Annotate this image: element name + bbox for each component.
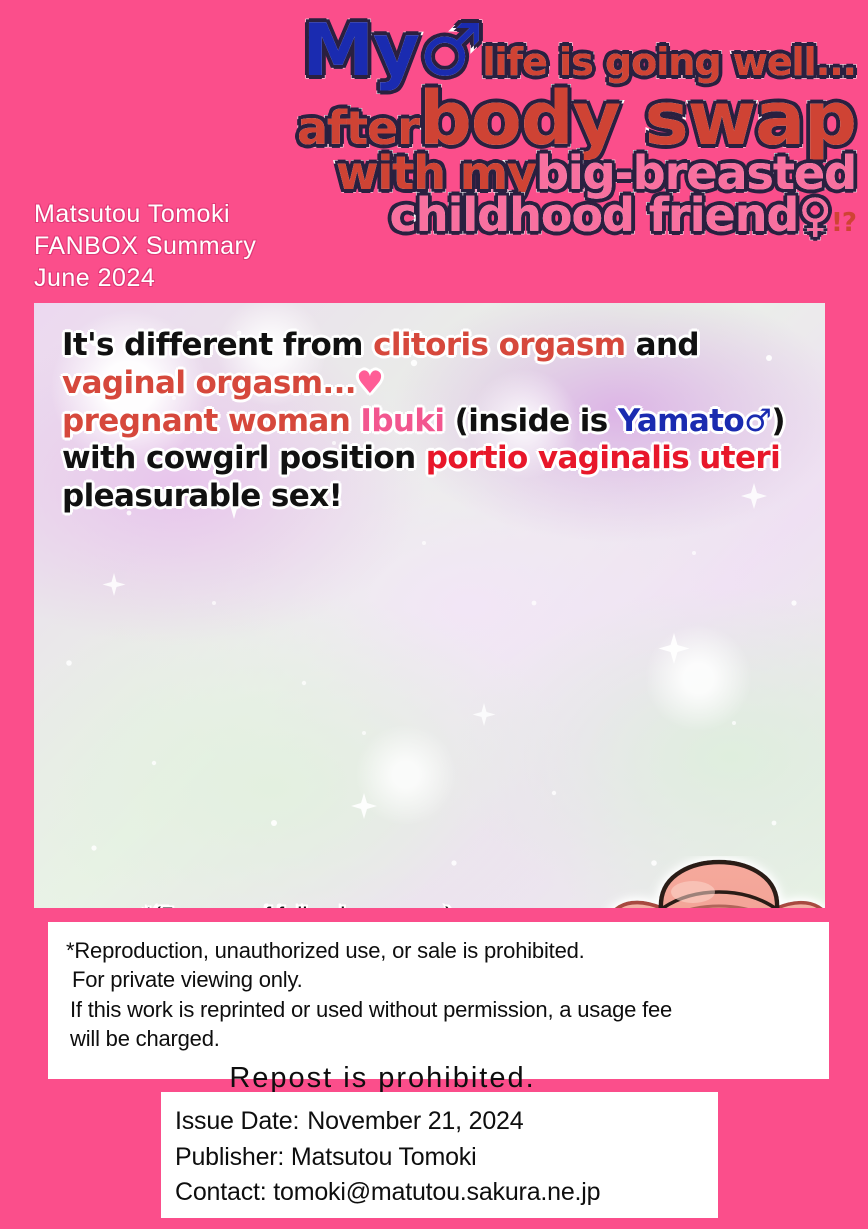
publisher-value: Matsutou Tomoki [291,1143,477,1171]
heart-icon: ♥ [356,365,383,401]
byline-source: FANBOX Summary [34,230,256,262]
terms-line-3: If this work is reprinted or used withou… [66,995,829,1024]
headline-line-5: pleasurable sex! [62,478,815,516]
headline-l1a: It's different from [62,327,373,363]
headline-line-4: with cowgirl position portio vaginalis u… [62,440,815,478]
headline-line-2: vaginal orgasm...♥ [62,365,815,403]
contact-value: tomoki@matutou.sakura.ne.jp [273,1178,600,1206]
terms-box: *Reproduction, unauthorized use, or sale… [48,922,829,1079]
page-count-note: *(5 pages of full-color manga) [144,903,453,908]
title-line-2: afterbody swap [248,82,856,156]
headline-cowgirl-position: with cowgirl position [62,440,426,476]
byline: Matsutou Tomoki FANBOX Summary June 2024 [34,198,256,294]
issue-info-box: Issue Date:November 21, 2024 Publisher: … [161,1092,718,1218]
publisher-row: Publisher: Matsutou Tomoki [175,1140,718,1176]
headline-line-3: pregnant woman Ibuki (inside is Yamato♂) [62,403,815,441]
uterus-illustration [601,856,825,908]
title-after: after [297,105,419,151]
headline-ibuki: Ibuki [360,403,444,439]
terms-line-1: *Reproduction, unauthorized use, or sale… [66,936,829,965]
headline-pregnant-woman: pregnant woman [62,403,360,439]
title-block: My♂life is going well... afterbody swap … [248,14,856,264]
issue-date-value: November 21, 2024 [307,1107,523,1135]
contact-row: Contact: tomoki@matutou.sakura.ne.jp [175,1175,718,1211]
title-body-swap: body swap [419,82,856,156]
headline-pleasurable-sex: pleasurable sex! [62,478,342,514]
female-symbol-icon: ♀ [798,192,831,238]
issue-date-label: Issue Date: [175,1107,299,1135]
headline-l3e: ) [771,403,785,439]
byline-date: June 2024 [34,262,256,294]
title-childhood-friend: childhood friend [390,192,799,238]
terms-lines: *Reproduction, unauthorized use, or sale… [48,922,829,1098]
main-content-panel: It's different from clitoris orgasm and … [34,303,825,908]
publisher-label: Publisher: [175,1143,284,1171]
headline-vaginal-orgasm: vaginal orgasm [62,365,322,401]
headline-line-1: It's different from clitoris orgasm and [62,327,815,365]
issue-date-row: Issue Date:November 21, 2024 [175,1104,718,1140]
contact-label: Contact: [175,1178,267,1206]
title-my: My [302,14,419,86]
headline-portio-vaginalis-uteri: portio vaginalis uteri [426,440,780,476]
headline-inside-is: (inside is [444,403,617,439]
headline-yamato: Yamato♂ [618,403,771,439]
headline-clitoris-orgasm: clitoris orgasm [373,327,625,363]
byline-author: Matsutou Tomoki [34,198,256,230]
headline-l1c: and [625,327,699,363]
issue-lines: Issue Date:November 21, 2024 Publisher: … [161,1092,718,1211]
headline-text: It's different from clitoris orgasm and … [62,327,815,516]
terms-line-2: For private viewing only. [66,965,829,994]
headline-ellipsis: ... [322,365,356,401]
title-interrobang: !? [831,210,856,236]
terms-line-4: will be charged. [66,1024,829,1053]
